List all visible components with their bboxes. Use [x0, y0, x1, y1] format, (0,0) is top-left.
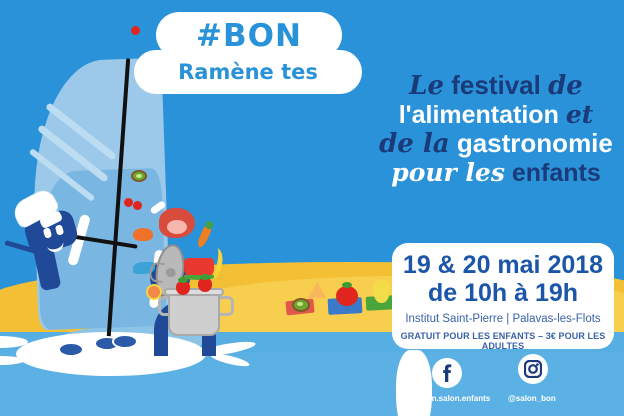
headline-word-et: et: [566, 100, 593, 129]
poster-canvas: #BON Ramène tes parents Le festival de l…: [0, 0, 624, 416]
strawberry-icon: [176, 281, 190, 295]
headline-word-festival: festival: [451, 70, 541, 100]
pot-lid-knob: [165, 267, 176, 277]
cooking-pot: [168, 292, 220, 336]
facebook-icon: [438, 364, 456, 382]
headline-word-pourles: pour les: [391, 158, 505, 187]
carrot-icon: [196, 225, 212, 248]
headline-block: Le festival de l'alimentation et de la g…: [376, 72, 616, 186]
cherries-icon: [124, 198, 133, 207]
social-links: @bon.salon.enfants @salon_bon: [414, 358, 594, 414]
kiwi-icon: [131, 170, 147, 182]
headline-line-1: Le festival de: [376, 72, 616, 100]
cherries-icon: [133, 201, 142, 210]
cooking-pot-rim: [164, 288, 224, 296]
event-price: GRATUIT POUR LES ENFANTS – 3€ POUR LES A…: [392, 331, 614, 351]
ice-cream-cone-icon: [308, 282, 326, 298]
facebook-button[interactable]: [432, 358, 462, 388]
headline-line-4: pour les enfants: [376, 160, 616, 187]
mascot-foot-right2: [112, 334, 138, 349]
headline-word-le: Le: [409, 71, 444, 101]
pot-lid-handle: [148, 261, 165, 283]
mascot-foot-left: [58, 342, 84, 357]
event-dates: 19 & 20 mai 2018: [392, 251, 614, 280]
ham-icon: [159, 208, 195, 238]
headline-word-enfants: enfants: [512, 159, 601, 187]
instagram-handle[interactable]: @salon_bon: [508, 394, 556, 403]
headline-word-de: de: [548, 71, 583, 101]
tomato-icon: [336, 286, 358, 306]
headline-line-2: l'alimentation et: [376, 102, 616, 129]
headline-line-3: de la gastronomie: [376, 130, 616, 158]
strawberry-icon: [198, 278, 212, 292]
event-hours: de 10h à 19h: [392, 279, 614, 308]
date-info-card: 19 & 20 mai 2018 de 10h à 19h Institut S…: [392, 243, 614, 349]
cherries-icon: [131, 26, 140, 35]
crab-icon: [133, 228, 153, 241]
instagram-icon: [524, 360, 542, 378]
ham-inner: [167, 220, 187, 234]
facebook-handle[interactable]: @bon.salon.enfants: [414, 394, 490, 403]
instagram-button[interactable]: [518, 354, 548, 384]
kiwi-icon: [292, 298, 310, 312]
headline-word-gastronomie: gastronomie: [457, 128, 613, 158]
logo-subtitle: Ramène tes parents: [134, 52, 362, 92]
headline-word-dela: de la: [379, 129, 450, 159]
headline-word-alimentation: l'alimentation: [399, 101, 559, 129]
event-venue: Institut Saint-Pierre | Palavas-les-Flot…: [392, 313, 614, 325]
